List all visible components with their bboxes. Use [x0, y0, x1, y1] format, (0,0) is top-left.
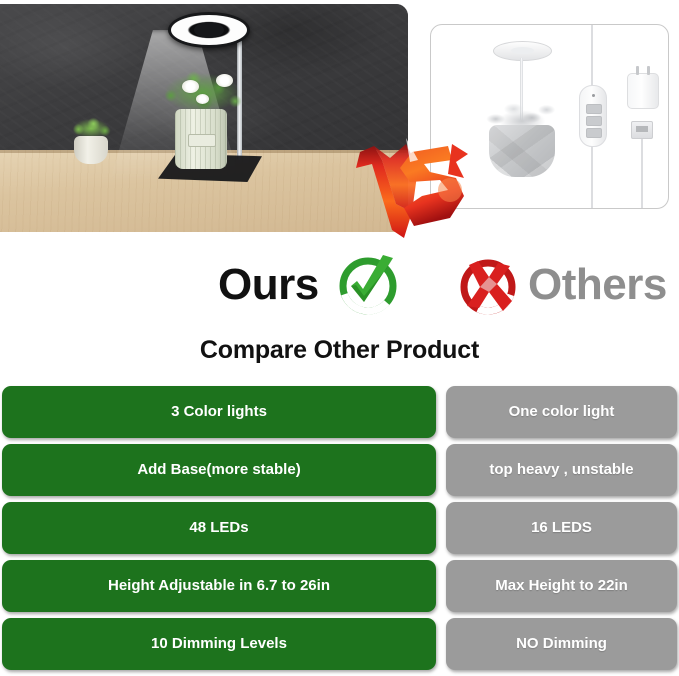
table-row: 10 Dimming Levels NO Dimming	[0, 618, 679, 670]
plug-prong	[647, 66, 650, 75]
dimmer-button	[586, 128, 602, 138]
theirs-cell-text: Max Height to 22in	[495, 578, 628, 595]
ours-cell: 3 Color lights	[2, 386, 436, 438]
usb-cord	[641, 129, 643, 208]
theirs-cell: NO Dimming	[446, 618, 677, 670]
green-check-circle-icon	[337, 254, 399, 316]
plug-prong	[636, 66, 639, 75]
table-row: Height Adjustable in 6.7 to 26in Max Hei…	[0, 560, 679, 612]
usb-connector	[631, 121, 653, 139]
comparison-table: 3 Color lights One color light Add Base(…	[0, 386, 679, 676]
theirs-cell: Max Height to 22in	[446, 560, 677, 612]
inline-dimmer-controller	[579, 85, 607, 147]
theirs-cell-text: 16 LEDS	[531, 520, 592, 537]
theirs-cell: 16 LEDS	[446, 502, 677, 554]
table-row: 3 Color lights One color light	[0, 386, 679, 438]
vs-badge-icon	[352, 134, 470, 246]
theirs-cell-text: One color light	[509, 404, 615, 421]
compare-title: Compare Other Product	[0, 336, 679, 365]
dimmer-button	[586, 104, 602, 114]
ours-cell: 10 Dimming Levels	[2, 618, 436, 670]
small-plant-pot	[74, 136, 108, 164]
red-x-circle-icon	[458, 256, 518, 316]
ours-cell-text: Height Adjustable in 6.7 to 26in	[108, 578, 330, 595]
flower-bloom	[196, 94, 209, 104]
others-label: Others	[528, 260, 667, 310]
flower-bloom	[182, 80, 199, 93]
table-row: Add Base(more stable) top heavy , unstab…	[0, 444, 679, 496]
ours-label: Ours	[218, 260, 319, 310]
table-row: 48 LEDs 16 LEDS	[0, 502, 679, 554]
ours-cell-text: Add Base(more stable)	[137, 462, 300, 479]
ours-cell: 48 LEDs	[2, 502, 436, 554]
ours-product-photo	[0, 4, 408, 232]
ours-cell: Add Base(more stable)	[2, 444, 436, 496]
pot-label	[188, 134, 216, 147]
verdict-row: Ours Others	[0, 252, 679, 320]
flower-bloom	[216, 74, 233, 87]
ring-led-lamp-icon	[168, 12, 250, 48]
dimmer-indicator-dot	[592, 94, 595, 97]
hero-comparison-images	[0, 0, 679, 250]
theirs-cell: One color light	[446, 386, 677, 438]
wall-power-adapter	[627, 73, 659, 109]
faceted-pot	[489, 125, 555, 177]
ours-cell-text: 48 LEDs	[189, 520, 248, 537]
theirs-cell-text: NO Dimming	[516, 636, 607, 653]
theirs-cell-text: top heavy , unstable	[489, 462, 633, 479]
ours-cell-text: 10 Dimming Levels	[151, 636, 287, 653]
theirs-cell: top heavy , unstable	[446, 444, 677, 496]
ours-cell: Height Adjustable in 6.7 to 26in	[2, 560, 436, 612]
dimmer-button	[586, 116, 602, 126]
ours-cell-text: 3 Color lights	[171, 404, 267, 421]
